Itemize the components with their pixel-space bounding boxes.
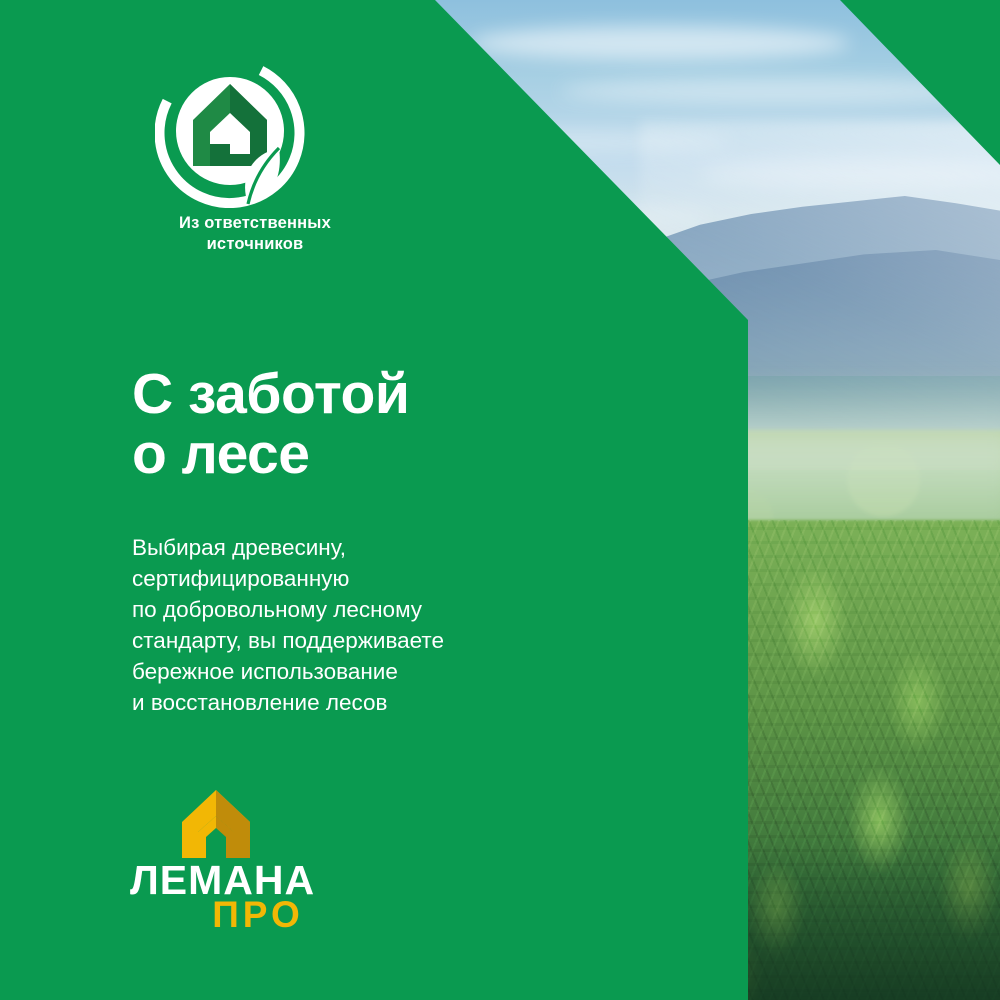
body-line-6: и восстановление лесов xyxy=(132,687,602,718)
headline-line-1: С заботой xyxy=(132,362,409,426)
body-line-1: Выбирая древесину, xyxy=(132,532,602,563)
badge-caption: Из ответственных источников xyxy=(155,213,355,255)
body-line-3: по добровольному лесному xyxy=(132,594,602,625)
page-title: С заботой о лесе xyxy=(132,365,652,485)
house-roof-icon xyxy=(180,788,252,860)
house-leaf-circle-icon xyxy=(155,58,305,208)
poster-canvas: Из ответственных источников С заботой о … xyxy=(0,0,1000,1000)
body-paragraph: Выбирая древесину, сертифицированную по … xyxy=(132,532,602,718)
responsible-sources-badge: Из ответственных источников xyxy=(155,58,305,263)
brand-logo-subtitle: ПРО xyxy=(130,896,380,933)
brand-logo: ЛЕМАНА ПРО xyxy=(130,788,380,940)
body-line-5: бережное использование xyxy=(132,656,602,687)
body-line-2: сертифицированную xyxy=(132,563,602,594)
body-line-4: стандарту, вы поддерживаете xyxy=(132,625,602,656)
badge-caption-line-1: Из ответственных xyxy=(155,213,355,234)
badge-caption-line-2: источников xyxy=(155,234,355,255)
headline-line-2: о лесе xyxy=(132,425,652,485)
cloud-wisp xyxy=(470,26,850,60)
